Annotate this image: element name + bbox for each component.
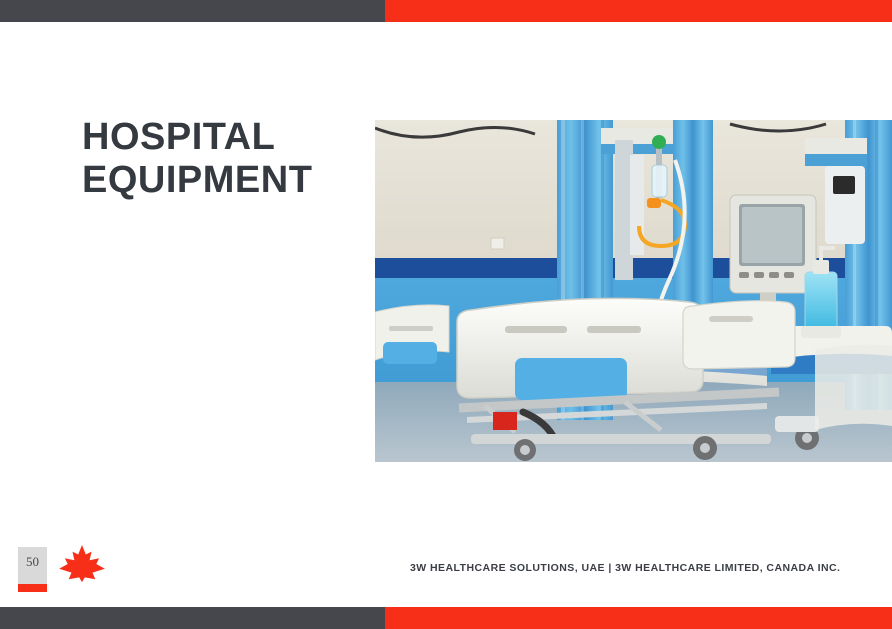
hospital-ward-illustration bbox=[375, 120, 892, 462]
bottom-bar-dark-segment bbox=[0, 607, 385, 629]
top-bar-red-segment bbox=[385, 0, 892, 22]
maple-leaf-icon bbox=[58, 544, 106, 584]
bottom-accent-bar bbox=[0, 607, 892, 629]
page-number-badge: 50 bbox=[18, 547, 47, 592]
top-bar-dark-segment bbox=[0, 0, 385, 22]
page-title: HOSPITAL EQUIPMENT bbox=[82, 116, 372, 201]
bottom-bar-red-segment bbox=[385, 607, 892, 629]
maple-leaf-glyph bbox=[58, 544, 106, 584]
footer-company-text: 3W HEALTHCARE SOLUTIONS, UAE | 3W HEALTH… bbox=[410, 562, 840, 574]
page-badge-accent-strip bbox=[18, 584, 47, 592]
page-title-line-1: HOSPITAL bbox=[82, 116, 372, 159]
top-accent-bar bbox=[0, 0, 892, 22]
hospital-equipment-photo bbox=[375, 120, 892, 462]
page-number: 50 bbox=[18, 547, 47, 570]
page-title-line-2: EQUIPMENT bbox=[82, 159, 372, 202]
